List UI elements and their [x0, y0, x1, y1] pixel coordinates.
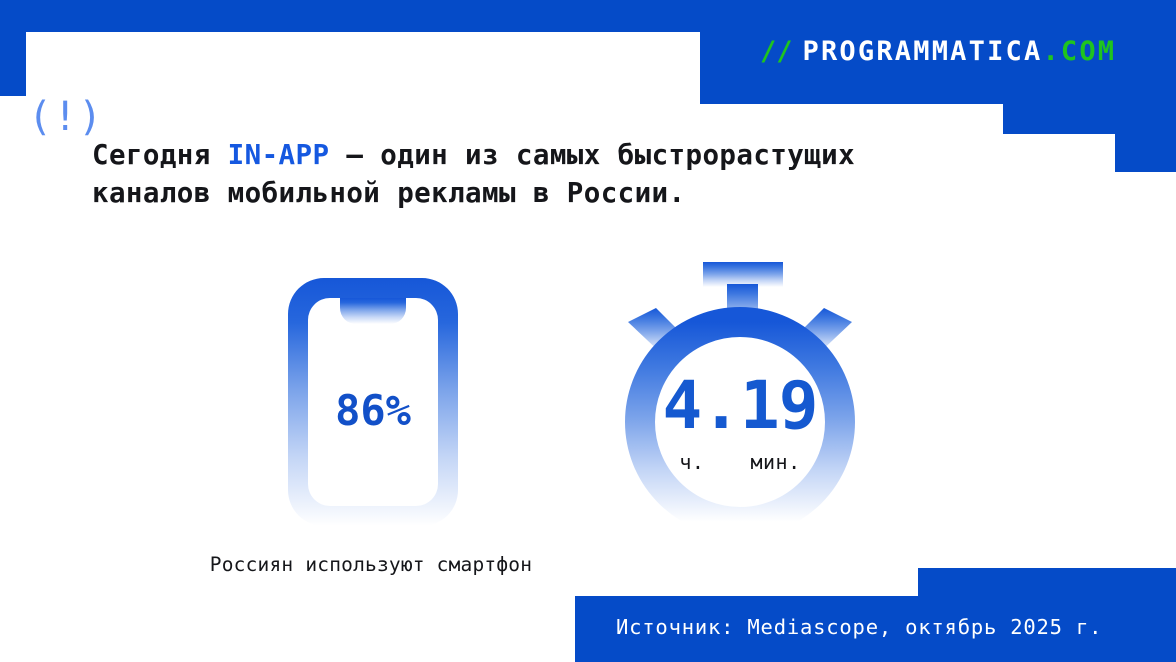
decoration-step-3 [1115, 72, 1176, 172]
slide: //PROGRAMMATICA.COM (!) Сегодня IN-APP —… [0, 0, 1176, 662]
stopwatch-unit-minutes: мин. [750, 450, 800, 474]
headline-accent: IN-APP [228, 139, 330, 171]
source-bar-upper-block [918, 568, 1176, 598]
decoration-step-1 [700, 72, 1003, 104]
stopwatch-units: ч. мин. [608, 450, 872, 474]
smartphone-caption: Россиян используют смартфон [196, 552, 546, 578]
logo-slashes-icon: // [760, 38, 793, 65]
attention-marker: (!) [28, 97, 103, 137]
logo-tld: .COM [1042, 36, 1116, 67]
decoration-top-left-bar [0, 0, 700, 32]
brand-logo: //PROGRAMMATICA.COM [760, 38, 1116, 65]
stopwatch-unit-hours: ч. [679, 450, 704, 474]
source-text: Источник: Mediascope, октябрь 2025 г. [616, 615, 1102, 639]
logo-name: PROGRAMMATICA [803, 36, 1043, 67]
smartphone-value: 86% [288, 386, 458, 435]
decoration-top-left-leg [0, 0, 26, 96]
headline-part-1: Сегодня [92, 139, 228, 171]
headline-text: Сегодня IN-APP — один из самых быстрорас… [92, 136, 952, 212]
stopwatch-value: 4.19 [608, 373, 872, 439]
decoration-step-2 [1003, 72, 1115, 134]
